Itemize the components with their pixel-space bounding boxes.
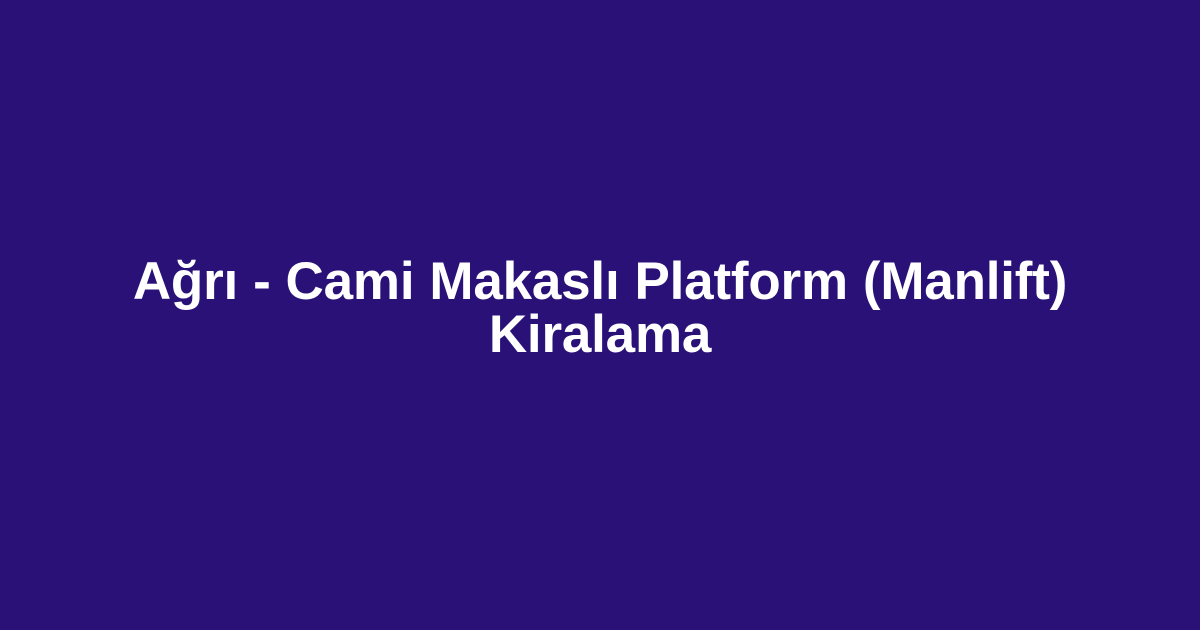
card-title: Ağrı - Cami Makaslı Platform (Manlift) K…: [118, 255, 1082, 361]
social-share-card: Ağrı - Cami Makaslı Platform (Manlift) K…: [0, 0, 1200, 630]
title-block: Ağrı - Cami Makaslı Platform (Manlift) K…: [0, 255, 1200, 361]
